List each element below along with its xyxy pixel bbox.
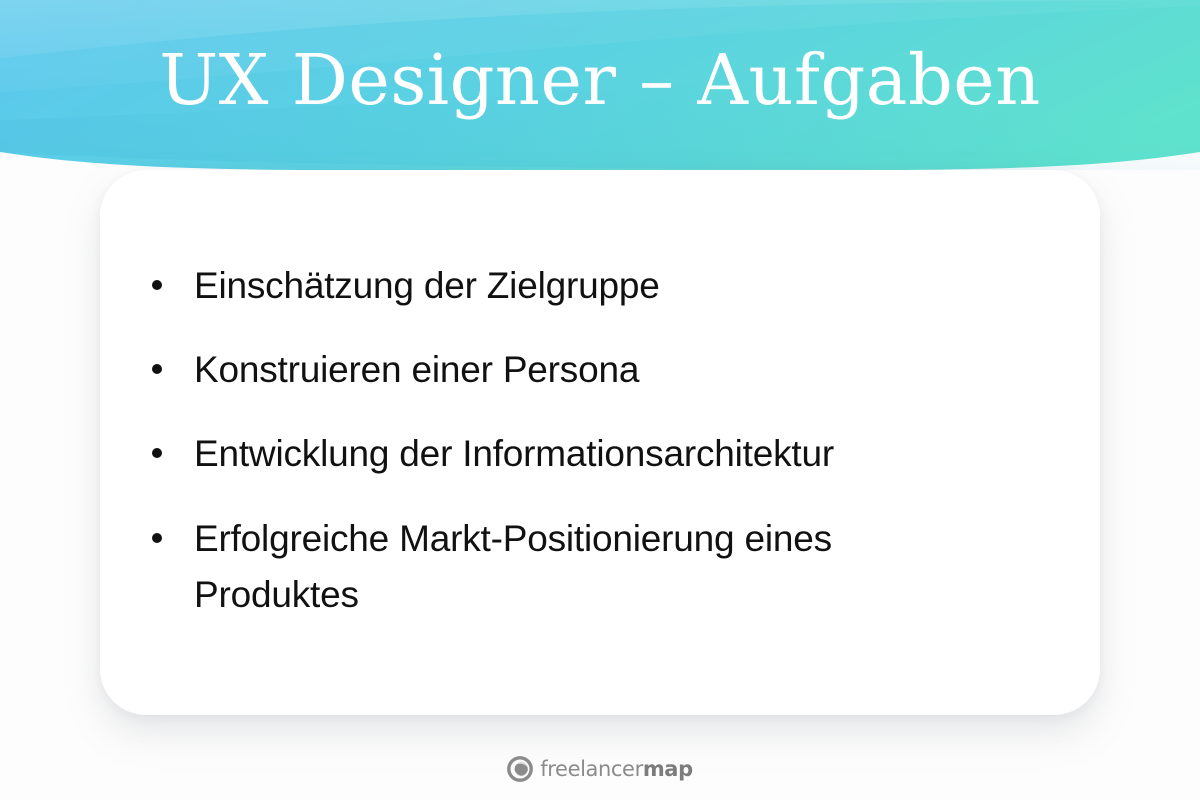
slide: UX Designer – Aufgaben Einschätzung der … xyxy=(0,0,1200,800)
list-item-label: Entwicklung der Informationsarchitektur xyxy=(194,433,834,474)
list-item-label: Erfolgreiche Markt-Positionierung eines … xyxy=(194,518,832,615)
list-item: Erfolgreiche Markt-Positionierung eines … xyxy=(150,511,984,623)
page-title: UX Designer – Aufgaben xyxy=(0,0,1200,165)
content-card: Einschätzung der Zielgruppe Konstruieren… xyxy=(100,170,1100,715)
list-item: Entwicklung der Informationsarchitektur xyxy=(150,426,984,482)
list-item: Einschätzung der Zielgruppe xyxy=(150,258,984,314)
logo-text-bold: map xyxy=(643,757,693,781)
bullet-dot-icon xyxy=(152,280,162,290)
bullet-dot-icon xyxy=(152,448,162,458)
bullet-dot-icon xyxy=(152,364,162,374)
logo-text-regular: freelancer xyxy=(540,757,643,781)
task-list: Einschätzung der Zielgruppe Konstruieren… xyxy=(150,258,1060,623)
list-item-label: Konstruieren einer Persona xyxy=(194,349,639,390)
footer-logo: freelancermap xyxy=(0,756,1200,782)
list-item-label: Einschätzung der Zielgruppe xyxy=(194,265,660,306)
logo-wordmark: freelancermap xyxy=(540,759,692,780)
freelancermap-circle-logo-icon xyxy=(507,756,533,782)
list-item: Konstruieren einer Persona xyxy=(150,342,984,398)
bullet-dot-icon xyxy=(152,533,162,543)
